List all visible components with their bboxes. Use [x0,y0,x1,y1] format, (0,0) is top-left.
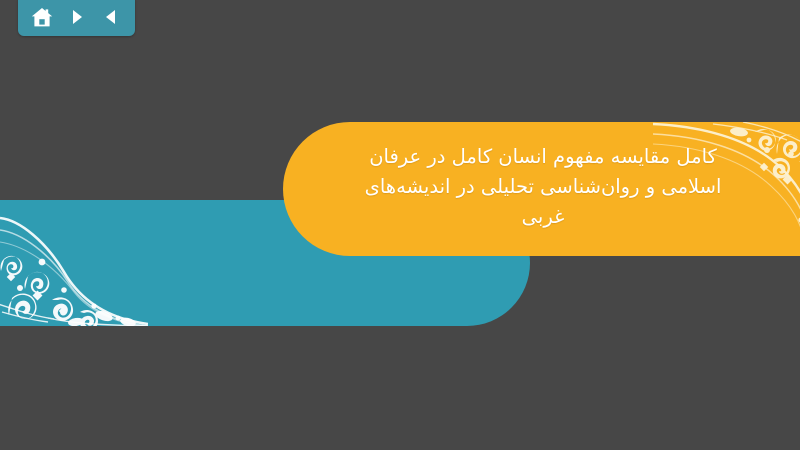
orange-title-band: کامل مقایسه مفهوم انسان کامل در عرفان اس… [283,122,800,256]
slide-title-line-2: اسلامی و روان‌شناسی تحلیلی در اندیشه‌های [365,175,722,198]
home-button[interactable] [27,4,57,30]
slide-title-line-3: غربی [522,205,565,228]
previous-slide-button[interactable] [96,4,126,30]
back-arrow-icon [102,8,120,26]
slide-title: کامل مقایسه مفهوم انسان کامل در عرفان اس… [328,142,758,237]
teal-arabesque-ornament [0,200,148,326]
forward-arrow-icon [68,8,86,26]
slide-stage: کامل مقایسه مفهوم انسان کامل در عرفان اس… [0,0,800,450]
slide-title-line-1: کامل مقایسه مفهوم انسان کامل در عرفان [369,145,717,168]
navigation-toolbar [18,0,135,36]
home-icon [31,7,53,28]
next-slide-button[interactable] [62,4,92,30]
